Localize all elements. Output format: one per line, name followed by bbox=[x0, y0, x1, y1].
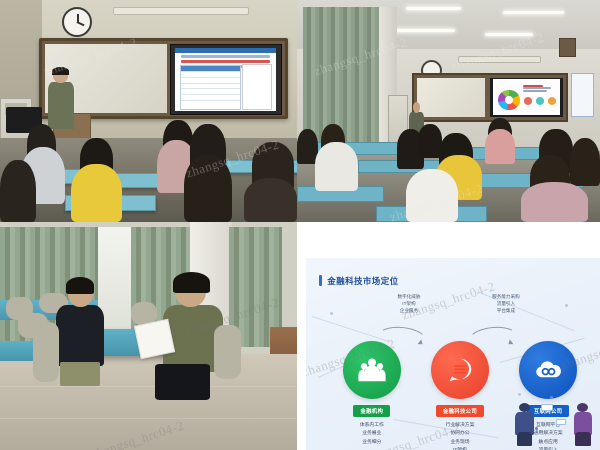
display-screen bbox=[490, 78, 563, 117]
illustration-dot bbox=[550, 396, 553, 399]
annotation-left-line-2: IT架构 bbox=[371, 300, 447, 307]
photo-top-left-content: zhangsq_hrc04-2 zhangsq_hrc04-2 bbox=[0, 0, 297, 222]
annotation-right: 服务能力采购 流量引入 平台集成 bbox=[468, 293, 544, 314]
slide-table-row bbox=[181, 100, 239, 106]
title-accent-bar bbox=[319, 275, 322, 286]
chair bbox=[214, 325, 241, 380]
illustration-legs bbox=[517, 432, 533, 446]
fintech-company-label: 金融科技公司 bbox=[436, 405, 484, 417]
photo-bottom-left[interactable]: zhangsq_hrc04-2 zhangsq_hrc04-2 bbox=[0, 222, 297, 450]
student bbox=[521, 182, 588, 222]
annotation-left-line-1: 数字化威胁 bbox=[371, 293, 447, 300]
slide-heading-line bbox=[523, 85, 543, 87]
projected-slide bbox=[175, 48, 276, 112]
student bbox=[244, 178, 297, 222]
whiteboard bbox=[417, 78, 485, 117]
slide-icon bbox=[524, 97, 533, 105]
chat-bubble-icon bbox=[445, 355, 475, 385]
photo-bottom-right[interactable]: 金融科技市场定位 数字化威胁 IT架构 企业服务 服务能力采购 流量引入 平台集… bbox=[297, 222, 600, 450]
annotation-left-line-3: 企业服务 bbox=[371, 307, 447, 314]
list-item: 业务展业 bbox=[343, 430, 401, 438]
photo-top-right[interactable]: zhangsq_hrc04-2 zhangsq_hrc04-2 zhangsq_… bbox=[297, 0, 600, 222]
ceiling-light bbox=[485, 33, 533, 36]
photo-top-right-content: zhangsq_hrc04-2 zhangsq_hrc04-2 zhangsq_… bbox=[297, 0, 600, 222]
annotation-right-line-1: 服务能力采购 bbox=[468, 293, 544, 300]
financial-institution-circle bbox=[343, 341, 401, 399]
financial-institution-label: 金融机构 bbox=[353, 405, 390, 417]
window-curtain bbox=[303, 7, 382, 145]
pie-chart-graphic bbox=[498, 90, 519, 111]
list-item: 行业解决方案 bbox=[431, 422, 489, 430]
person-left-hair bbox=[66, 277, 95, 295]
instructor-hair bbox=[52, 67, 69, 75]
person-left-legs bbox=[60, 362, 100, 386]
illustration-head bbox=[519, 403, 530, 412]
annotation-right-line-3: 平台集成 bbox=[468, 307, 544, 314]
list-item: 业务现场 bbox=[431, 439, 489, 447]
fintech-company-items: 行业解决方案 协同办公 业务现场 IT架构 bbox=[431, 422, 489, 450]
student bbox=[184, 155, 232, 222]
fintech-company-circle bbox=[431, 341, 489, 399]
projected-slide bbox=[493, 79, 560, 115]
student bbox=[0, 160, 36, 222]
floor-tile-line bbox=[0, 418, 297, 419]
person-right-legs bbox=[155, 364, 210, 400]
slide-text-line bbox=[181, 60, 270, 63]
slide-title-row: 金融科技市场定位 bbox=[319, 275, 398, 287]
ceiling-strip bbox=[458, 56, 542, 64]
photo-collage: zhangsq_hrc04-2 zhangsq_hrc04-2 bbox=[0, 0, 600, 450]
wall-clock-icon bbox=[62, 7, 92, 37]
illustration-person-right bbox=[571, 400, 600, 446]
page-title: 金融科技市场定位 bbox=[327, 275, 398, 287]
floor-tile-line bbox=[0, 386, 297, 387]
list-item: 体系内工作 bbox=[343, 422, 401, 430]
annotation-right-line-2: 流量引入 bbox=[468, 300, 544, 307]
illustration-dot bbox=[535, 427, 538, 430]
network-dot bbox=[330, 312, 333, 315]
ceiling-strip bbox=[113, 7, 249, 16]
presentation-slide: 金融科技市场定位 数字化威胁 IT架构 企业服务 服务能力采购 流量引入 平台集… bbox=[297, 222, 600, 450]
slide-header-bar bbox=[175, 48, 276, 54]
financial-institution-items: 体系内工作 业务展业 业务细分 bbox=[343, 422, 401, 447]
slide-text-line bbox=[523, 90, 547, 92]
network-dot bbox=[565, 304, 568, 307]
slide-document-preview bbox=[242, 64, 272, 109]
student bbox=[406, 169, 458, 222]
wall-poster bbox=[571, 73, 594, 117]
annotation-left: 数字化威胁 IT架构 企业服务 bbox=[371, 293, 447, 314]
node-fintech-company[interactable]: 金融科技公司 行业解决方案 协同办公 业务现场 IT架构 bbox=[431, 341, 489, 450]
illustration-node bbox=[541, 404, 553, 411]
ceiling-light bbox=[503, 11, 564, 14]
ceiling-light bbox=[406, 7, 461, 10]
person-left-body bbox=[56, 305, 104, 366]
student bbox=[315, 142, 357, 191]
illustration-head bbox=[577, 403, 588, 412]
ceiling-light bbox=[388, 29, 455, 32]
photo-bottom-left-content: zhangsq_hrc04-2 zhangsq_hrc04-2 bbox=[0, 222, 297, 450]
node-financial-institution[interactable]: 金融机构 体系内工作 业务展业 业务细分 bbox=[343, 341, 401, 447]
chair bbox=[33, 322, 60, 381]
illustration-legs bbox=[575, 432, 591, 446]
student bbox=[485, 129, 515, 165]
list-item: 业务细分 bbox=[343, 439, 401, 447]
cloud-infinity-icon bbox=[533, 354, 564, 385]
slide-icon bbox=[536, 97, 545, 105]
person-right-hair bbox=[173, 272, 210, 292]
photo-top-left[interactable]: zhangsq_hrc04-2 zhangsq_hrc04-2 bbox=[0, 0, 297, 222]
slide-icon bbox=[548, 97, 557, 105]
display-screen bbox=[170, 44, 282, 115]
instructor bbox=[48, 69, 75, 129]
student bbox=[71, 164, 121, 222]
illustration-node bbox=[556, 419, 566, 425]
slide-text-line bbox=[181, 55, 270, 58]
slide-table bbox=[180, 65, 240, 109]
smartboard-frame bbox=[412, 73, 568, 121]
internet-company-circle bbox=[519, 341, 577, 399]
smartboard-frame bbox=[39, 38, 289, 119]
person-left bbox=[56, 277, 104, 386]
student bbox=[570, 138, 600, 187]
people-group-icon bbox=[357, 355, 387, 385]
list-item: 协同办公 bbox=[431, 430, 489, 438]
wall-speaker bbox=[559, 38, 576, 58]
instructor-body bbox=[48, 82, 75, 129]
illustration-person-left bbox=[512, 400, 541, 446]
slide-canvas: 金融科技市场定位 数字化威胁 IT架构 企业服务 服务能力采购 流量引入 平台集… bbox=[306, 258, 600, 450]
